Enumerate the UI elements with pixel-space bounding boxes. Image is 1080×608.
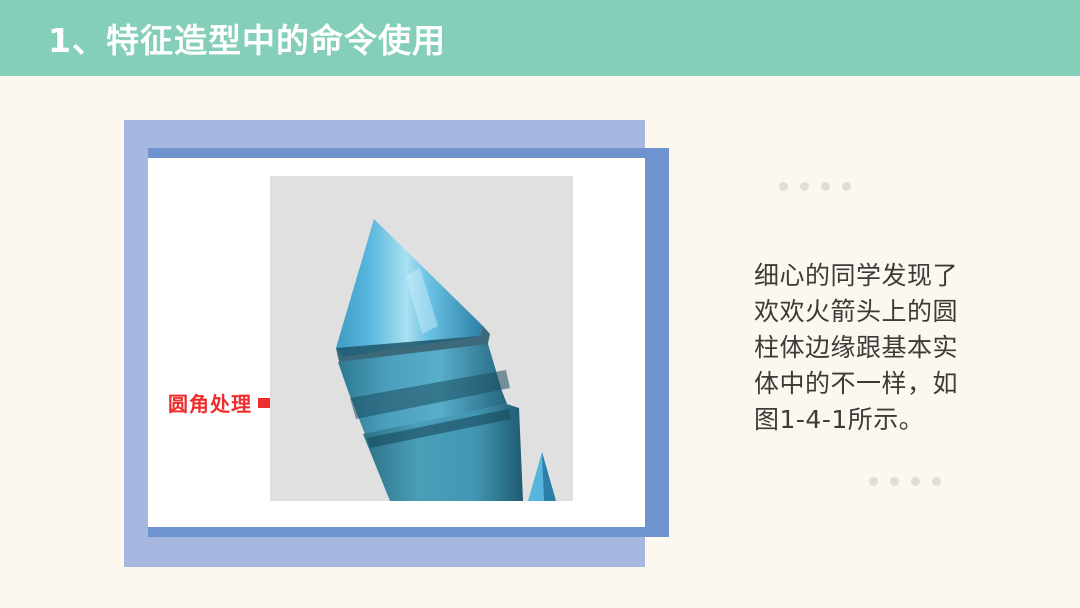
dot-icon (821, 182, 830, 191)
dot-icon (890, 477, 899, 486)
dot-icon (869, 477, 878, 486)
dot-icon (932, 477, 941, 486)
cad-render-stage (270, 176, 573, 501)
decorative-dots-bottom (869, 477, 941, 486)
figure-white-panel: 圆角处理 (148, 158, 645, 527)
body-paragraph: 细心的同学发现了 欢欢火箭头上的圆 柱体边缘跟基本实 体中的不一样，如 图1-4… (754, 258, 980, 438)
dot-icon (842, 182, 851, 191)
decorative-dots-top (779, 182, 851, 191)
figure-composite: 圆角处理 (124, 120, 670, 570)
dot-icon (779, 182, 788, 191)
dot-icon (800, 182, 809, 191)
page-title: 1、特征造型中的命令使用 (48, 14, 446, 62)
rocket-nose-cone-icon (270, 176, 573, 501)
callout-label: 圆角处理 (168, 388, 252, 417)
dot-icon (911, 477, 920, 486)
